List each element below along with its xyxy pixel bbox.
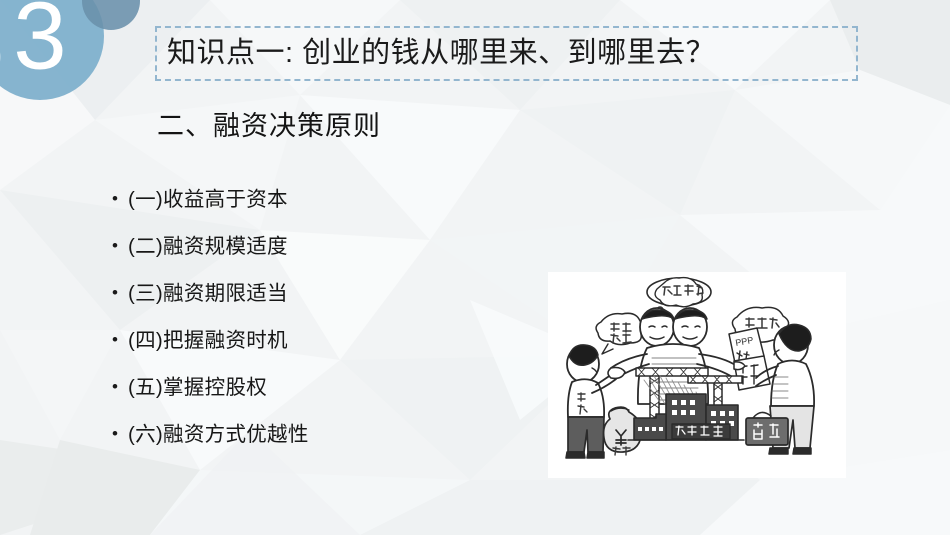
list-item: • (三)融资期限适当 [112, 280, 512, 327]
paper-local-bond [734, 356, 770, 390]
bullet-marker-icon: • [112, 327, 128, 352]
list-item-label: (六)融资方式优越性 [128, 421, 309, 448]
list-item-label: (一)收益高于资本 [128, 186, 288, 213]
bullet-marker-icon: • [112, 233, 128, 258]
bullet-marker-icon: • [112, 374, 128, 399]
bullet-marker-icon: • [112, 280, 128, 305]
page-title: 知识点一: 创业的钱从哪里来、到哪里去？ [167, 39, 715, 68]
list-item-label: (三)融资期限适当 [128, 280, 288, 307]
list-item: • (四)把握融资时机 [112, 327, 512, 374]
list-item-label: (五)掌握控股权 [128, 374, 267, 401]
list-item-label: (四)把握融资时机 [128, 327, 288, 354]
bullet-marker-icon: • [112, 186, 128, 211]
section-subtitle: 二、融资决策原则 [157, 104, 381, 143]
list-item: • (五)掌握控股权 [112, 374, 512, 421]
illustration-image: PPP [548, 272, 846, 478]
title-box: 知识点一: 创业的钱从哪里来、到哪里去？ [155, 26, 858, 81]
bullet-marker-icon: • [112, 421, 128, 446]
list-item: • (六)融资方式优越性 [112, 421, 512, 468]
list-item: • (二)融资规模适度 [112, 233, 512, 280]
cartoon-illustration: PPP [548, 272, 846, 478]
slide-canvas: 3 知识点一: 创业的钱从哪里来、到哪里去？ 二、融资决策原则 • (一)收益高… [0, 0, 950, 535]
briefcase [746, 412, 788, 445]
list-item: • (一)收益高于资本 [112, 186, 512, 233]
list-item-label: (二)融资规模适度 [128, 233, 288, 260]
principles-list: • (一)收益高于资本 • (二)融资规模适度 • (三)融资期限适当 • (四… [112, 186, 512, 468]
